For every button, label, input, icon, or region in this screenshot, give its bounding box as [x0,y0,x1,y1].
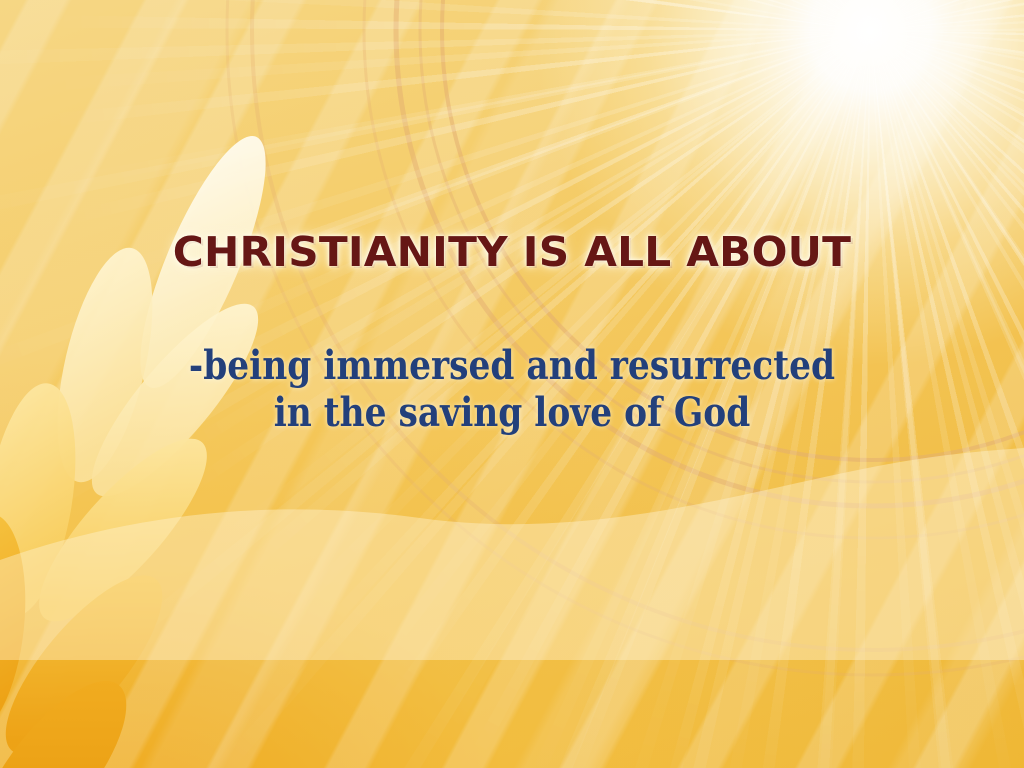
subtitle-block: -being immersed and resurrected in the s… [72,342,953,436]
banner: Where hearts and minds are made new Wher… [0,520,1024,720]
subtitle-line-1: -being immersed and resurrected [189,342,835,389]
subtitle-line-2: in the saving love of God [72,389,953,436]
slide-canvas: CHRISTIANITY IS ALL ABOUT -being immerse… [0,0,1024,768]
page-title: CHRISTIANITY IS ALL ABOUT [0,228,1024,276]
